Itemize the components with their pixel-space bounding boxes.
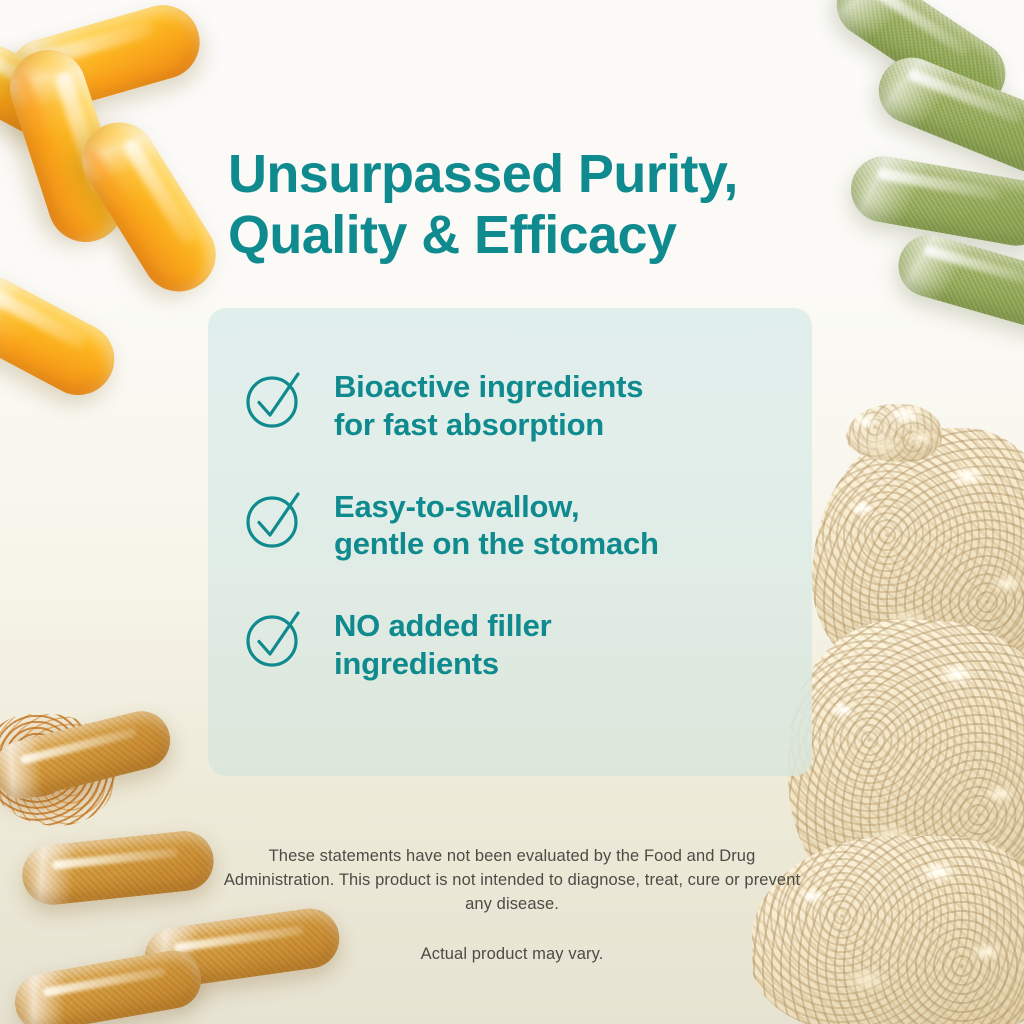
benefit-label-line1: NO added filler xyxy=(334,608,551,643)
benefits-panel: Bioactive ingredients for fast absorptio… xyxy=(208,308,812,776)
product-variation-note: Actual product may vary. xyxy=(212,943,812,967)
benefit-label: Bioactive ingredients for fast absorptio… xyxy=(334,364,643,444)
softgel-capsule xyxy=(0,264,127,407)
benefit-label-line2: gentle on the stomach xyxy=(334,525,659,563)
benefit-item: Bioactive ingredients for fast absorptio… xyxy=(242,364,778,444)
check-circle-icon xyxy=(242,366,308,432)
benefit-label-line1: Easy-to-swallow, xyxy=(334,489,579,524)
benefit-item: NO added filler ingredients xyxy=(242,603,778,683)
benefit-label: NO added filler ingredients xyxy=(334,603,551,683)
page-title-line2: Quality & Efficacy xyxy=(228,205,868,265)
protein-powder-crumb xyxy=(846,404,942,462)
benefit-label: Easy-to-swallow, gentle on the stomach xyxy=(334,484,659,564)
benefit-item: Easy-to-swallow, gentle on the stomach xyxy=(242,484,778,564)
fda-statement: These statements have not been evaluated… xyxy=(224,847,800,913)
disclaimer: These statements have not been evaluated… xyxy=(212,845,812,967)
benefit-label-line2: ingredients xyxy=(334,645,551,683)
turmeric-capsule xyxy=(19,828,216,908)
benefit-label-line2: for fast absorption xyxy=(334,406,643,444)
turmeric-capsule xyxy=(10,946,205,1024)
page-title-line1: Unsurpassed Purity, xyxy=(228,144,738,204)
promo-image: Unsurpassed Purity, Quality & Efficacy B… xyxy=(0,0,1024,1024)
page-title: Unsurpassed Purity, Quality & Efficacy xyxy=(228,144,868,265)
check-circle-icon xyxy=(242,486,308,552)
check-circle-icon xyxy=(242,605,308,671)
benefit-label-line1: Bioactive ingredients xyxy=(334,369,643,404)
